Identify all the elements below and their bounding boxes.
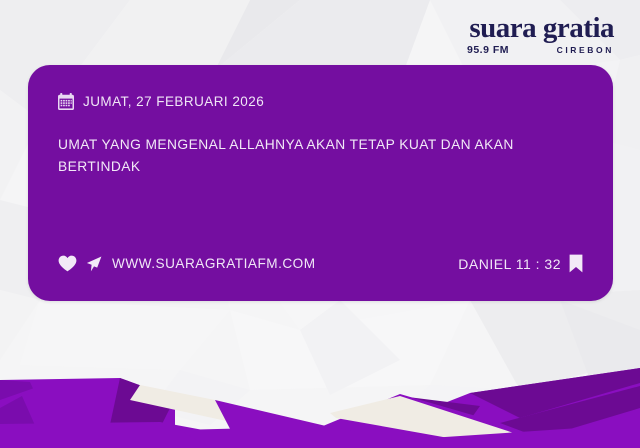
heart-icon xyxy=(58,255,77,272)
verse-card: JUMAT, 27 FEBRUARI 2026 UMAT YANG MENGEN… xyxy=(28,65,613,301)
footer-left: WWW.SUARAGRATIAFM.COM xyxy=(58,255,316,272)
date-row: JUMAT, 27 FEBRUARI 2026 xyxy=(58,93,583,110)
website-url[interactable]: WWW.SUARAGRATIAFM.COM xyxy=(112,256,316,271)
card-footer: WWW.SUARAGRATIAFM.COM DANIEL 11 : 32 xyxy=(58,254,583,273)
logo-frequency: 95.9 FM xyxy=(467,44,509,56)
paper-plane-icon xyxy=(86,256,102,272)
logo-city: CIREBON xyxy=(557,45,614,55)
broadcast-date: JUMAT, 27 FEBRUARI 2026 xyxy=(83,94,264,109)
poster-canvas: suara gratia 95.9 FM CIREBON xyxy=(0,0,640,448)
logo-wordmark: suara gratia xyxy=(467,14,614,43)
logo-subline: 95.9 FM CIREBON xyxy=(467,44,614,56)
mountain-decoration xyxy=(0,338,640,448)
verse-message: UMAT YANG MENGENAL ALLAHNYA AKAN TETAP K… xyxy=(58,134,558,179)
footer-right: DANIEL 11 : 32 xyxy=(458,254,583,273)
calendar-icon xyxy=(58,93,74,110)
station-logo: suara gratia 95.9 FM CIREBON xyxy=(467,14,614,56)
verse-reference: DANIEL 11 : 32 xyxy=(458,256,561,272)
bookmark-icon xyxy=(569,254,583,273)
